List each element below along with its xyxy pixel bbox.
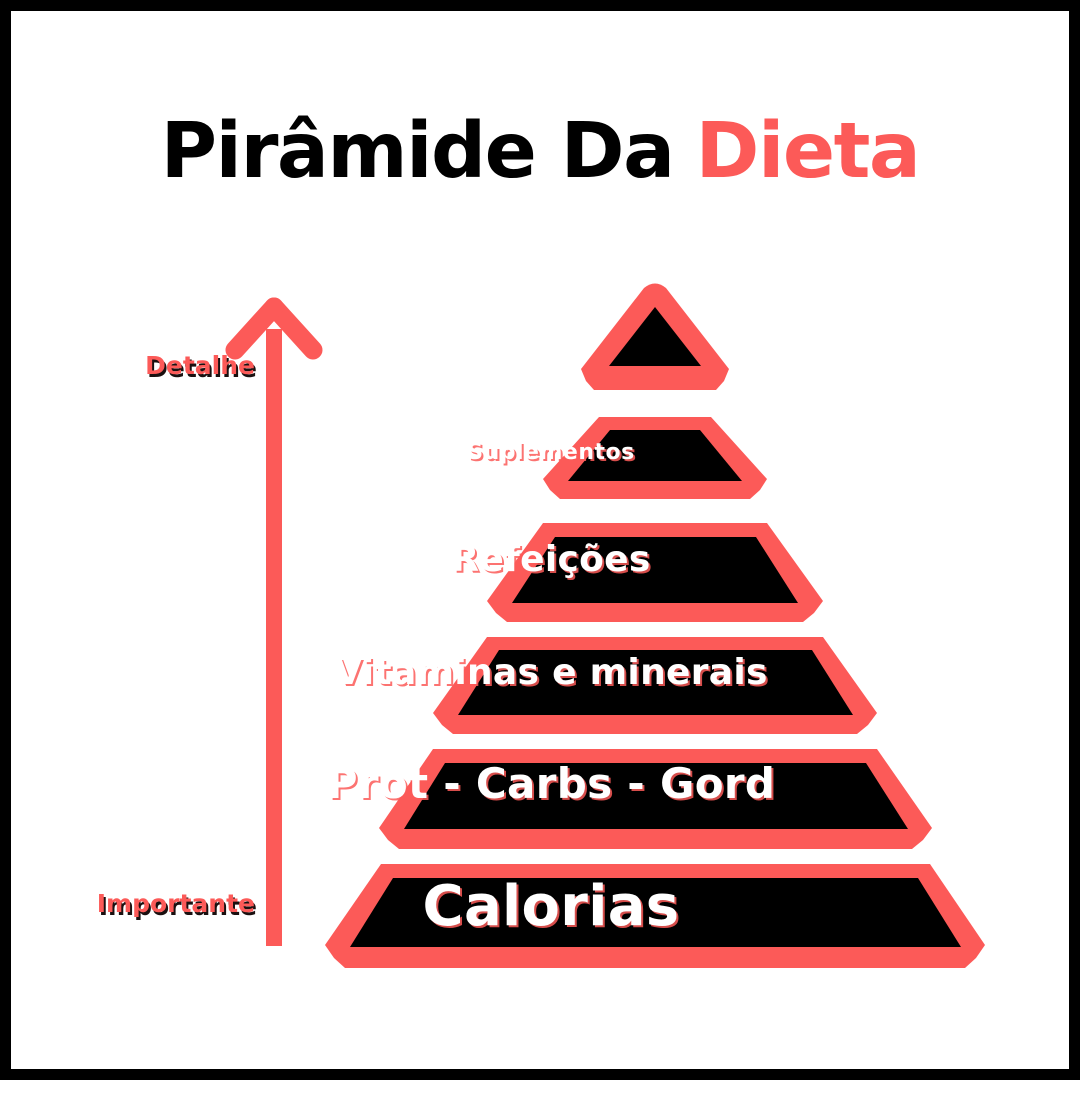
diet-pyramid: Suplementos Refeições Vitaminas e minera… [11,11,1080,1091]
poster-canvas: Pirâmide DaDieta Detalhe Importante [0,0,1080,1080]
pyramid-level-6[interactable]: Calorias [11,11,1080,1091]
pyramid-level-6-shape [11,11,1080,1091]
